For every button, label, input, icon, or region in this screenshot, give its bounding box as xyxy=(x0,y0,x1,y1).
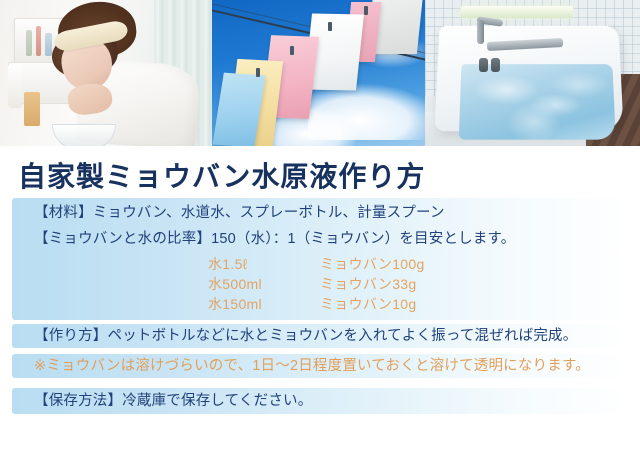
bottle-green xyxy=(26,30,32,56)
bottle-blue xyxy=(45,33,52,56)
note-line: ※ミョウバンは溶けづらいので、1日〜2日程度置いておくと溶けて透明になります。 xyxy=(34,359,590,374)
table-row: 水150ml ミョウバン10g xyxy=(12,295,628,314)
shower-head xyxy=(477,20,484,44)
cell-alum-amount: ミョウバン33g xyxy=(320,275,416,294)
page-title: 自家製ミョウバン水原液作り方 xyxy=(18,155,425,195)
photo-laundry-clothesline xyxy=(212,0,425,146)
clothespin-4 xyxy=(364,6,368,15)
cell-water-amount: 水500ml xyxy=(208,275,262,294)
faucet-knob-1 xyxy=(479,58,488,72)
clothespin-2 xyxy=(290,46,294,55)
table-row: 水500ml ミョウバン33g xyxy=(12,275,628,294)
recipe-band-upper: 【材料】ミョウバン、水道水、スプレーボトル、計量スプーン 【ミョウバンと水の比率… xyxy=(12,198,628,320)
bath-water xyxy=(459,64,616,140)
photo-woman-washing-face xyxy=(0,0,212,146)
storage-band: 【保存方法】冷蔵庫で保存してください。 xyxy=(12,388,628,414)
towel xyxy=(8,64,22,108)
photo-bathtub xyxy=(425,0,640,146)
water-ripples xyxy=(459,64,616,140)
clothespin-1 xyxy=(256,68,260,77)
storage-line: 【保存方法】冷蔵庫で保存してください。 xyxy=(34,394,312,409)
wooden-box xyxy=(24,92,40,126)
method-band: 【作り方】ペットボトルなどに水とミョウバンを入れてよく振って混ぜれば完成。 xyxy=(12,324,628,348)
cell-alum-amount: ミョウバン10g xyxy=(320,295,416,314)
note-band: ※ミョウバンは溶けづらいので、1日〜2日程度置いておくと溶けて透明になります。 xyxy=(12,354,628,378)
measurement-table: 水1.5ℓ ミョウバン100g 水500ml ミョウバン33g 水150ml ミ… xyxy=(12,255,628,315)
cell-water-amount: 水1.5ℓ xyxy=(208,255,248,274)
clothespin-3 xyxy=(328,22,332,31)
faucet-knob-2 xyxy=(491,58,500,72)
cell-water-amount: 水150ml xyxy=(208,295,262,314)
wash-basin xyxy=(52,124,116,146)
method-line: 【作り方】ペットボトルなどに水とミョウバンを入れてよく振って混ぜれば完成。 xyxy=(34,329,577,344)
photo-banner xyxy=(0,0,640,146)
materials-line: 【材料】ミョウバン、水道水、スプレーボトル、計量スプーン xyxy=(34,206,445,221)
cell-alum-amount: ミョウバン100g xyxy=(320,255,425,274)
table-row: 水1.5ℓ ミョウバン100g xyxy=(12,255,628,274)
bottle-pink xyxy=(36,26,41,56)
ratio-line: 【ミョウバンと水の比率】150（水）：1（ミョウバン）を目安とします。 xyxy=(34,232,516,247)
